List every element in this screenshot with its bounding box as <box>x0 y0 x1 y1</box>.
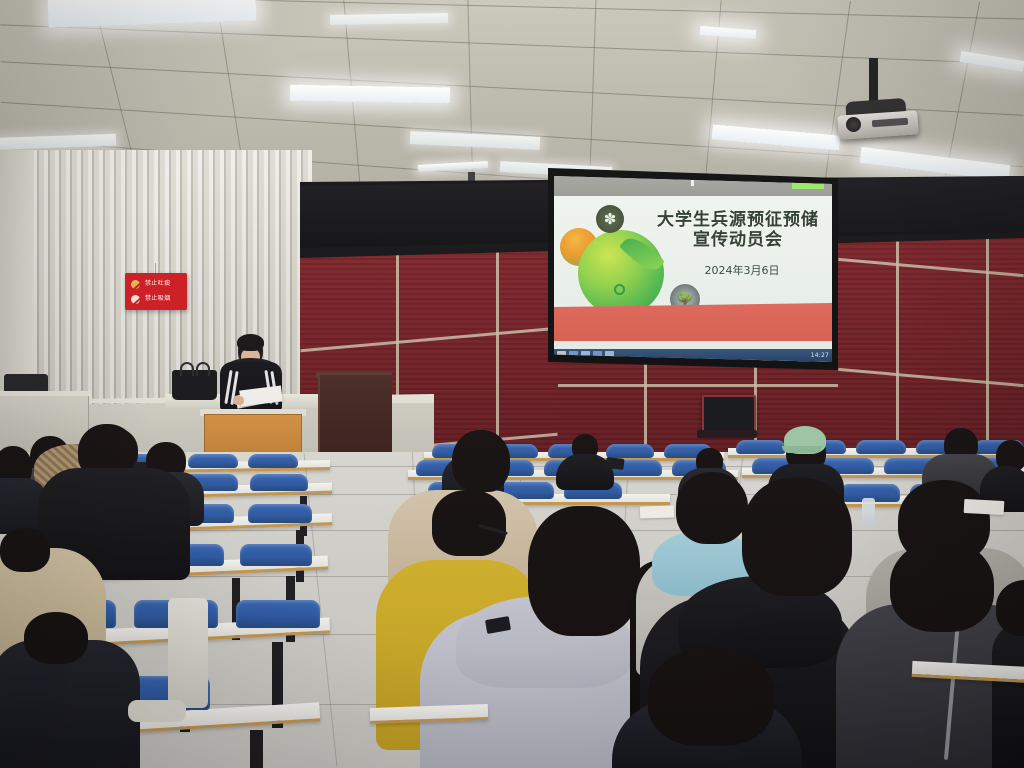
handbag <box>172 370 217 400</box>
presenter-hand <box>233 396 244 405</box>
chair[interactable] <box>248 454 298 468</box>
chair[interactable] <box>248 504 312 523</box>
ceiling-light-panel <box>700 26 756 39</box>
sign-row-no-spitting: 禁止吐痰 <box>129 278 183 291</box>
mouse-cursor-icon <box>691 180 694 186</box>
ceiling-light-panel <box>860 147 1011 181</box>
ceiling-light-panel <box>330 13 448 25</box>
no-spitting-icon <box>129 278 142 291</box>
sign-row2-label: 禁止吸烟 <box>145 296 171 302</box>
slide-title-line1: 大学生兵源预征预储 <box>652 210 824 230</box>
slide-leaf-stem <box>614 284 625 295</box>
slide-flower-emblem-icon <box>596 205 624 233</box>
sign-row1-label: 禁止吐痰 <box>145 281 171 287</box>
chair[interactable] <box>736 440 786 454</box>
no-smoking-spitting-sign: 禁止吐痰 禁止吸烟 <box>125 273 187 310</box>
chair[interactable] <box>240 544 312 566</box>
chair[interactable] <box>236 600 320 628</box>
presentation-slide: 大学生兵源预征预储 宣传动员会 2024年3月6日 <box>554 196 832 341</box>
student-white-pants <box>168 598 208 708</box>
open-book <box>964 499 1005 515</box>
water-bottle <box>862 498 875 526</box>
ceiling-light-panel <box>48 0 257 28</box>
sign-row-no-smoking: 禁止吸烟 <box>129 293 183 306</box>
lecture-hall-photo: 禁止吐痰 禁止吸烟 <box>0 0 1024 768</box>
projection-screen[interactable]: 大学生兵源预征预储 宣传动员会 2024年3月6日 14:27 <box>554 176 832 362</box>
cap-bill <box>782 446 822 453</box>
wall-monitor-shelf <box>697 430 757 438</box>
open-book <box>640 505 674 518</box>
chair[interactable] <box>856 440 906 454</box>
chair[interactable] <box>250 474 308 491</box>
mobile-phone <box>605 457 624 470</box>
taskbar-clock: 14:27 <box>811 352 829 359</box>
chair[interactable] <box>188 454 238 468</box>
slide-red-band <box>554 303 832 341</box>
presenter-hair <box>237 334 264 351</box>
ceiling-light-panel <box>712 124 841 150</box>
handbag-handle <box>180 362 194 376</box>
student-shoe <box>128 700 186 722</box>
no-smoking-icon <box>129 293 142 306</box>
slide-title-line2: 宣传动员会 <box>652 230 824 250</box>
ceiling-light-panel <box>290 85 450 104</box>
slide-date: 2024年3月6日 <box>672 262 812 278</box>
chair[interactable] <box>606 444 654 458</box>
handbag-handle <box>196 362 210 376</box>
wall-mounted-monitor <box>702 395 756 435</box>
ceiling-light-panel <box>960 51 1024 72</box>
ceiling-light-panel <box>0 134 116 151</box>
slide-title: 大学生兵源预征预储 宣传动员会 <box>652 210 824 250</box>
